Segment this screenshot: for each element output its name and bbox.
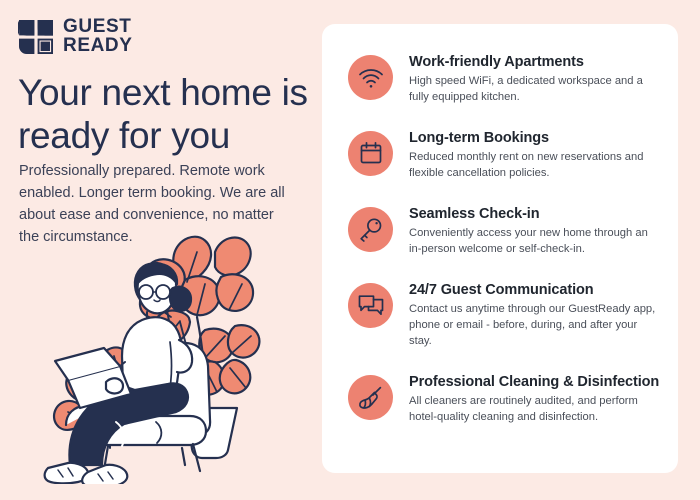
feature-text: Professional Cleaning & Disinfection All…	[409, 372, 660, 426]
promo-page: GUEST READY Your next home is ready for …	[0, 0, 700, 500]
feature-title: Work-friendly Apartments	[409, 53, 660, 71]
feature-item-long-term-bookings[interactable]: Long-term Bookings Reduced monthly rent …	[348, 128, 660, 182]
feature-item-work-friendly-apartments[interactable]: Work-friendly Apartments High speed WiFi…	[348, 52, 660, 106]
brand-name-line-1: GUEST	[63, 18, 133, 37]
chat-bubbles-icon	[348, 283, 393, 328]
feature-description: Conveniently access your new home throug…	[409, 226, 660, 258]
feature-description: All cleaners are routinely audited, and …	[409, 394, 660, 426]
hero-column: GUEST READY Your next home is ready for …	[0, 0, 320, 500]
feature-title: Seamless Check-in	[409, 205, 660, 223]
brand-wordmark: GUEST READY	[63, 18, 133, 55]
guestready-logo-mark-icon	[18, 19, 54, 55]
feature-text: 24/7 Guest Communication Contact us anyt…	[409, 280, 660, 350]
feature-item-guest-communication[interactable]: 24/7 Guest Communication Contact us anyt…	[348, 280, 660, 350]
feature-item-professional-cleaning[interactable]: Professional Cleaning & Disinfection All…	[348, 372, 660, 426]
feature-description: Reduced monthly rent on new reservations…	[409, 150, 660, 182]
feature-item-seamless-check-in[interactable]: Seamless Check-in Conveniently access yo…	[348, 204, 660, 258]
brand-logo[interactable]: GUEST READY	[18, 18, 133, 55]
feature-title: Professional Cleaning & Disinfection	[409, 373, 660, 391]
wifi-icon	[348, 55, 393, 100]
feature-title: 24/7 Guest Communication	[409, 281, 660, 299]
features-card: Work-friendly Apartments High speed WiFi…	[322, 24, 678, 473]
feature-list: Work-friendly Apartments High speed WiFi…	[322, 24, 678, 426]
calendar-icon	[348, 131, 393, 176]
key-icon	[348, 207, 393, 252]
feature-text: Work-friendly Apartments High speed WiFi…	[409, 52, 660, 106]
page-title: Your next home is ready for you	[18, 72, 308, 158]
broom-icon	[348, 375, 393, 420]
feature-title: Long-term Bookings	[409, 129, 660, 147]
feature-description: Contact us anytime through our GuestRead…	[409, 302, 660, 350]
hero-illustration	[30, 222, 315, 484]
feature-text: Seamless Check-in Conveniently access yo…	[409, 204, 660, 258]
feature-description: High speed WiFi, a dedicated workspace a…	[409, 74, 660, 106]
feature-text: Long-term Bookings Reduced monthly rent …	[409, 128, 660, 182]
brand-name-line-2: READY	[63, 37, 133, 56]
